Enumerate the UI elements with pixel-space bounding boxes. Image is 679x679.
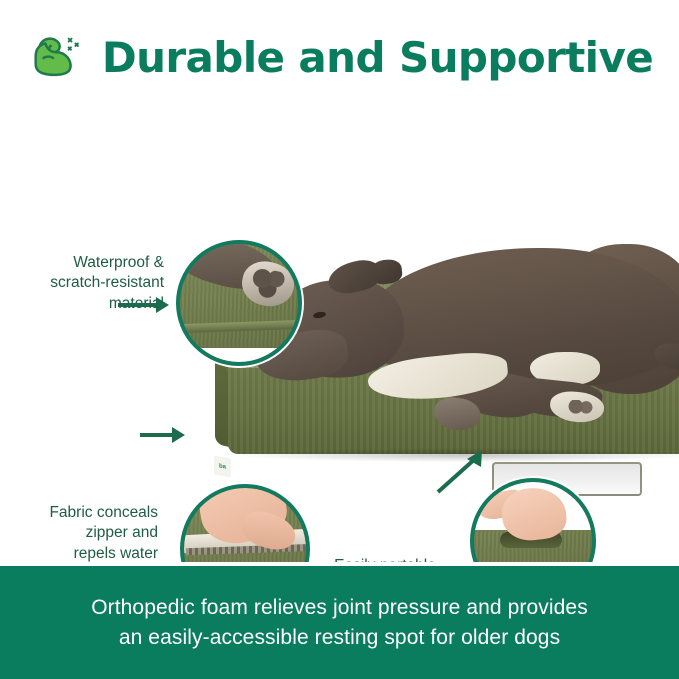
brand-tag: ba	[214, 456, 231, 478]
callout-waterproof-line2: scratch-resistant	[14, 273, 164, 293]
callout-handle-line1: Easily portable	[322, 556, 448, 562]
dog-rear-paw-pads	[568, 400, 594, 416]
flexed-bicep-icon	[26, 27, 88, 89]
banner-line1: Orthopedic foam relieves joint pressure …	[20, 593, 660, 623]
callout-zipper-line1: Fabric conceals	[6, 503, 158, 523]
banner-line2: an easily-accessible resting spot for ol…	[20, 623, 660, 653]
infographic-page: Durable and Supportive ba	[0, 0, 679, 679]
page-title: Durable and Supportive	[102, 37, 653, 79]
inset-paw-detail	[176, 240, 302, 366]
callout-waterproof-line1: Waterproof &	[14, 253, 164, 273]
product-photo: ba	[0, 100, 679, 562]
dog-photo	[250, 240, 679, 465]
arrow-right-icon	[118, 295, 172, 320]
header: Durable and Supportive	[0, 18, 679, 98]
inset-white-base	[180, 348, 298, 362]
callout-zipper: Fabric conceals zipper and repels water	[6, 503, 158, 562]
callout-zipper-line3: repels water	[6, 544, 158, 562]
banner-text: Orthopedic foam relieves joint pressure …	[20, 593, 660, 653]
inset-zipper-detail	[180, 484, 310, 562]
arrow-up-right-icon	[436, 448, 490, 501]
callout-zipper-line2: zipper and	[6, 523, 158, 543]
callout-handle: Easily portable with built-in handle	[322, 556, 448, 562]
bottom-banner: Orthopedic foam relieves joint pressure …	[0, 566, 679, 679]
arrow-right-icon	[140, 425, 188, 450]
